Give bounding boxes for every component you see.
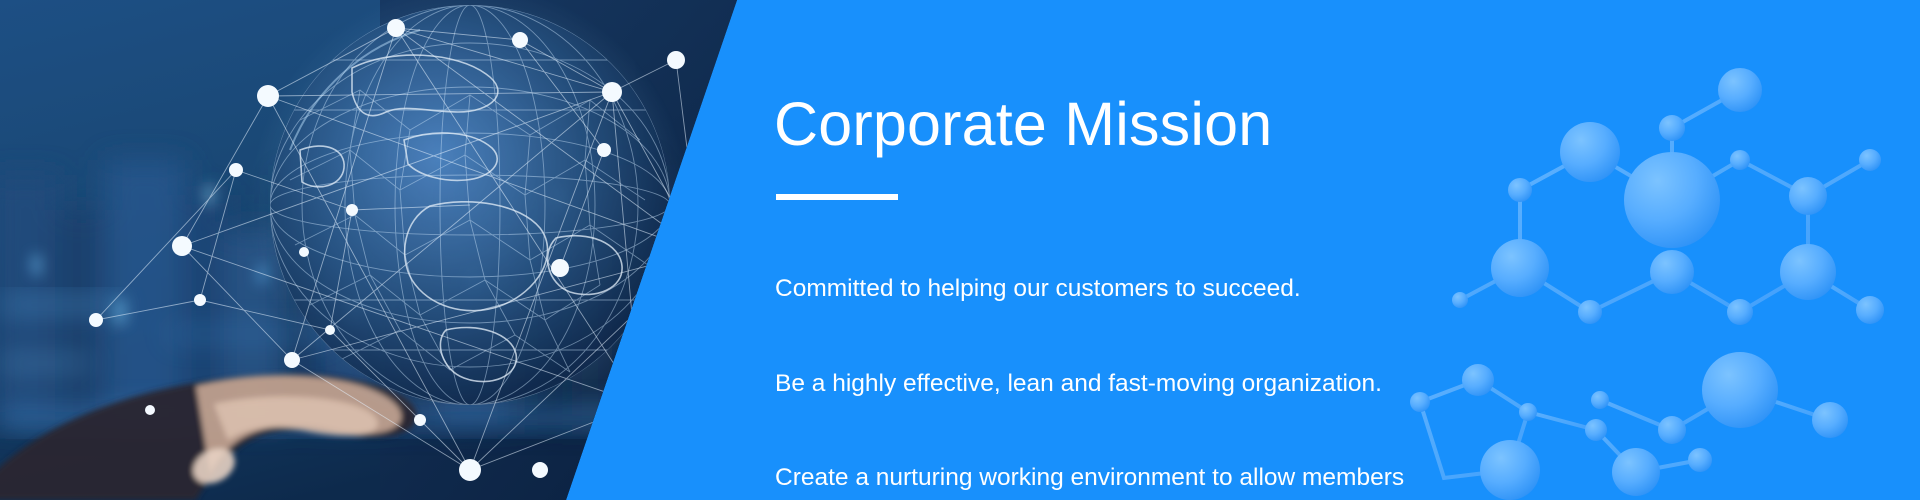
title-divider [776, 194, 898, 200]
corporate-mission-banner: Corporate Mission Committed to helping o… [0, 0, 1920, 500]
mission-statement: Committed to helping our customers to su… [775, 210, 1495, 500]
mission-line: Committed to helping our customers to su… [775, 273, 1495, 305]
mission-text-block: Corporate Mission Committed to helping o… [772, 0, 1672, 500]
page-title: Corporate Mission [774, 88, 1272, 160]
mission-line: Be a highly effective, lean and fast-mov… [775, 368, 1495, 400]
mission-line: Create a nurturing working environment t… [775, 462, 1495, 494]
